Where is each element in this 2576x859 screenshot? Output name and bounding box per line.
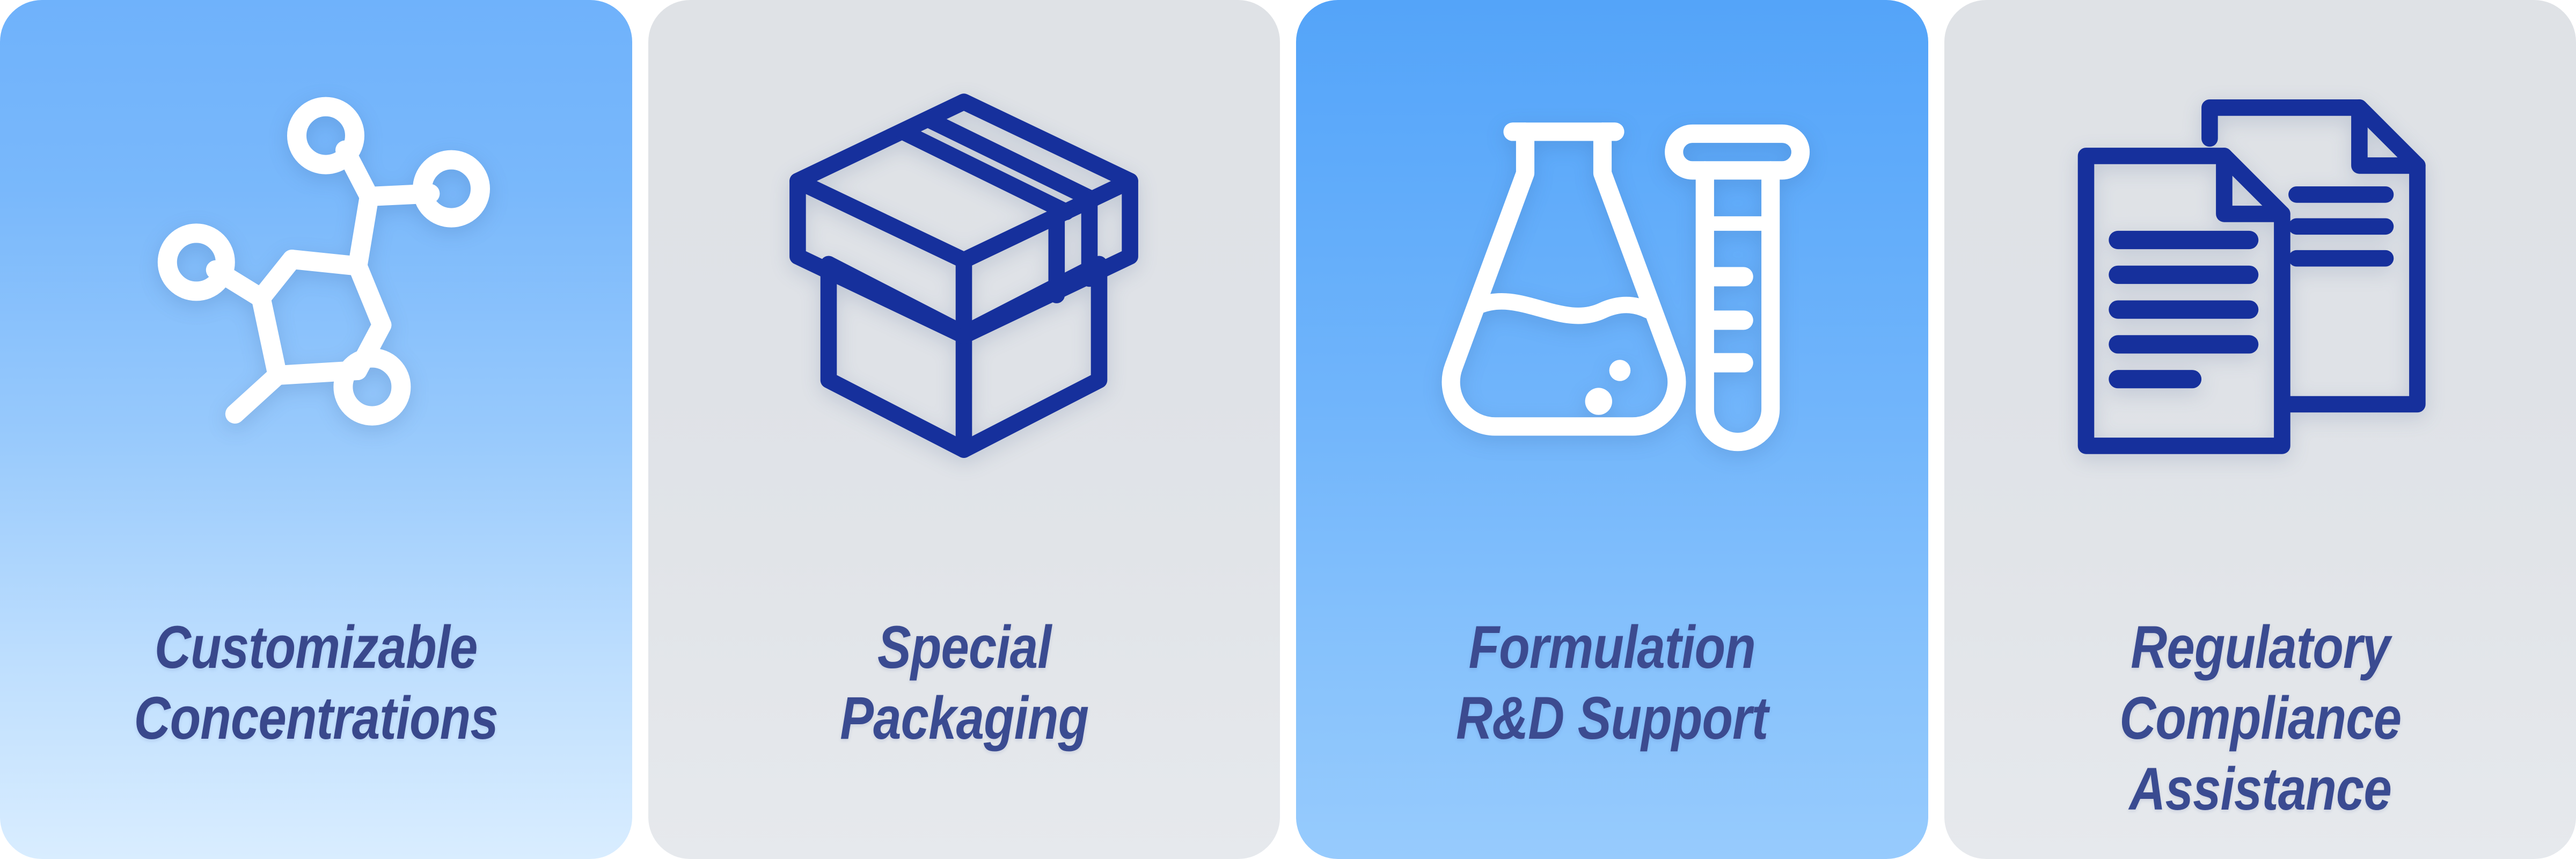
feature-card-special-packaging[interactable]: Special Packaging [648, 0, 1280, 859]
feature-card-strip: Customizable Concentrations [0, 0, 2576, 859]
feature-card-label: Special Packaging [699, 612, 1230, 754]
documents-icon [2056, 81, 2464, 467]
feature-card-label: Formulation R&D Support [1346, 612, 1877, 754]
feature-card-customizable-concentrations[interactable]: Customizable Concentrations [0, 0, 632, 859]
feature-card-regulatory-compliance-assistance[interactable]: Regulatory Compliance Assistance [1944, 0, 2576, 859]
molecule-icon [112, 81, 520, 467]
feature-card-label: Regulatory Compliance Assistance [1995, 612, 2526, 825]
feature-card-formulation-rd-support[interactable]: Formulation R&D Support [1296, 0, 1928, 859]
feature-card-label: Customizable Concentrations [50, 612, 581, 754]
flask-test-tube-icon [1408, 81, 1816, 467]
package-box-icon [760, 81, 1168, 467]
